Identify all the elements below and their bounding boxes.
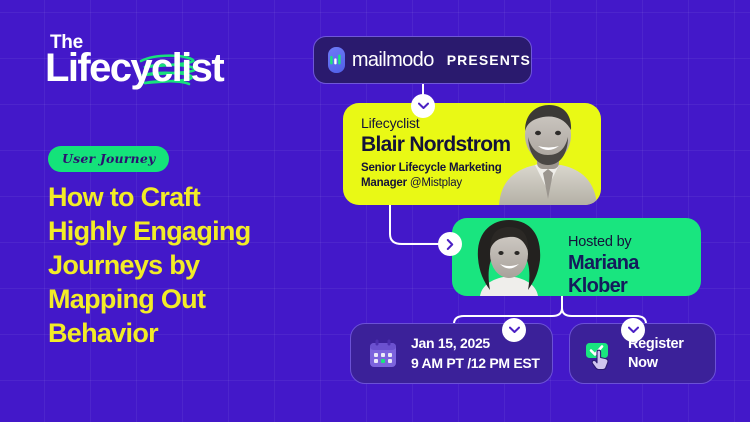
node-chevron-register[interactable] (621, 318, 645, 342)
page-title: How to Craft Highly Engaging Journeys by… (48, 180, 328, 350)
promo-canvas: The Lifecyclist User Journey How to Craf… (0, 0, 750, 422)
mailmodo-wordmark: mailmodo (352, 49, 434, 72)
chevron-down-icon (628, 326, 639, 334)
lifecyclist-logo: The Lifecyclist (45, 30, 275, 102)
headline-line-2: Highly Engaging (48, 214, 328, 248)
headline-line-1: How to Craft (48, 180, 328, 214)
headline-line-5: Behavior (48, 316, 328, 350)
click-checkbox-icon (584, 338, 618, 370)
presents-label: PRESENTS (447, 52, 531, 68)
node-chevron-speaker[interactable] (411, 94, 435, 118)
calendar-icon (367, 338, 399, 370)
chevron-down-icon (418, 102, 429, 110)
speaker-name: Blair Nordstrom (361, 133, 510, 157)
host-card: Hosted by Mariana Klober (452, 218, 701, 296)
node-chevron-date[interactable] (502, 318, 526, 342)
mailmodo-presents-badge: mailmodo PRESENTS (313, 36, 532, 84)
time-line: 9 AM PT /12 PM EST (411, 354, 540, 373)
mailmodo-logo-icon (328, 47, 345, 73)
speaker-role: Lifecyclist (361, 115, 419, 131)
node-chevron-host[interactable] (438, 232, 462, 256)
chevron-right-icon (446, 239, 454, 250)
host-name: Mariana Klober (568, 252, 701, 296)
register-line-2: Now (628, 354, 684, 372)
speaker-handle: @Mistplay (410, 177, 462, 189)
chevron-down-icon (509, 326, 520, 334)
headline-line-4: Mapping Out (48, 282, 328, 316)
speaker-card: Lifecyclist Blair Nordstrom Senior Lifec… (343, 103, 601, 205)
logo-name-text: Lifecyclist (45, 48, 223, 88)
host-label: Hosted by (568, 234, 701, 250)
host-photo (466, 218, 552, 296)
host-text-group: Hosted by Mariana Klober (568, 234, 701, 296)
user-journey-tag: User Journey (48, 146, 169, 172)
speaker-photo (491, 103, 601, 205)
headline-line-3: Journeys by (48, 248, 328, 282)
